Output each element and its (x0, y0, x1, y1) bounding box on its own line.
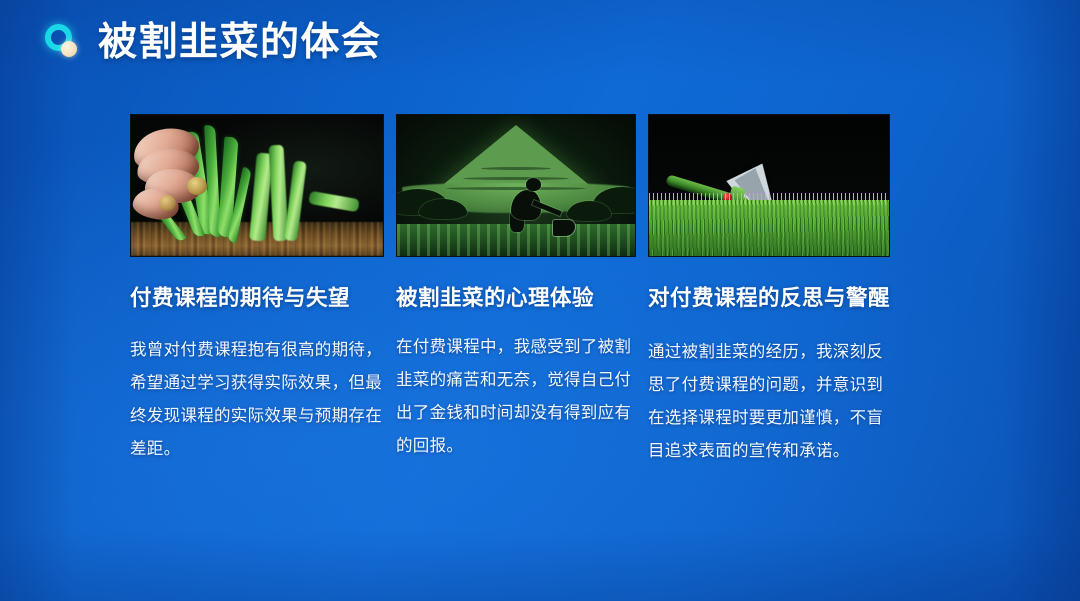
farmer-silhouette-harvest-image (396, 114, 636, 257)
slide-header: 被割韭菜的体会 (42, 22, 382, 62)
card-body: 我曾对付费课程抱有很高的期待，希望通过学习获得实际效果，但最终发现课程的实际效果… (130, 334, 384, 466)
card-row: 付费课程的期待与失望 我曾对付费课程抱有很高的期待，希望通过学习获得实际效果，但… (130, 114, 892, 468)
blade-over-grass-image (648, 114, 890, 257)
brand-logo (42, 22, 82, 62)
slide-root: 被割韭菜的体会 (0, 0, 1080, 601)
content-card-3: 对付费课程的反思与警醒 通过被割韭菜的经历，我深刻反思了付费课程的问题，并意识到… (648, 114, 890, 468)
card-title: 付费课程的期待与失望 (130, 283, 384, 314)
logo-accent-dot-icon (61, 41, 77, 57)
hand-cutting-chives-image (130, 114, 384, 257)
card-title: 对付费课程的反思与警醒 (648, 283, 890, 314)
content-card-2: 被割韭菜的心理体验 在付费课程中，我感受到了被割韭菜的痛苦和无奈，觉得自己付出了… (396, 114, 636, 468)
card-body: 通过被割韭菜的经历，我深刻反思了付费课程的问题，并意识到在选择课程时要更加谨慎，… (648, 336, 890, 468)
page-title: 被割韭菜的体会 (98, 23, 382, 62)
card-body: 在付费课程中，我感受到了被割韭菜的痛苦和无奈，觉得自己付出了金钱和时间却没有得到… (396, 331, 636, 463)
card-title: 被割韭菜的心理体验 (396, 283, 636, 314)
content-card-1: 付费课程的期待与失望 我曾对付费课程抱有很高的期待，希望通过学习获得实际效果，但… (130, 114, 384, 468)
